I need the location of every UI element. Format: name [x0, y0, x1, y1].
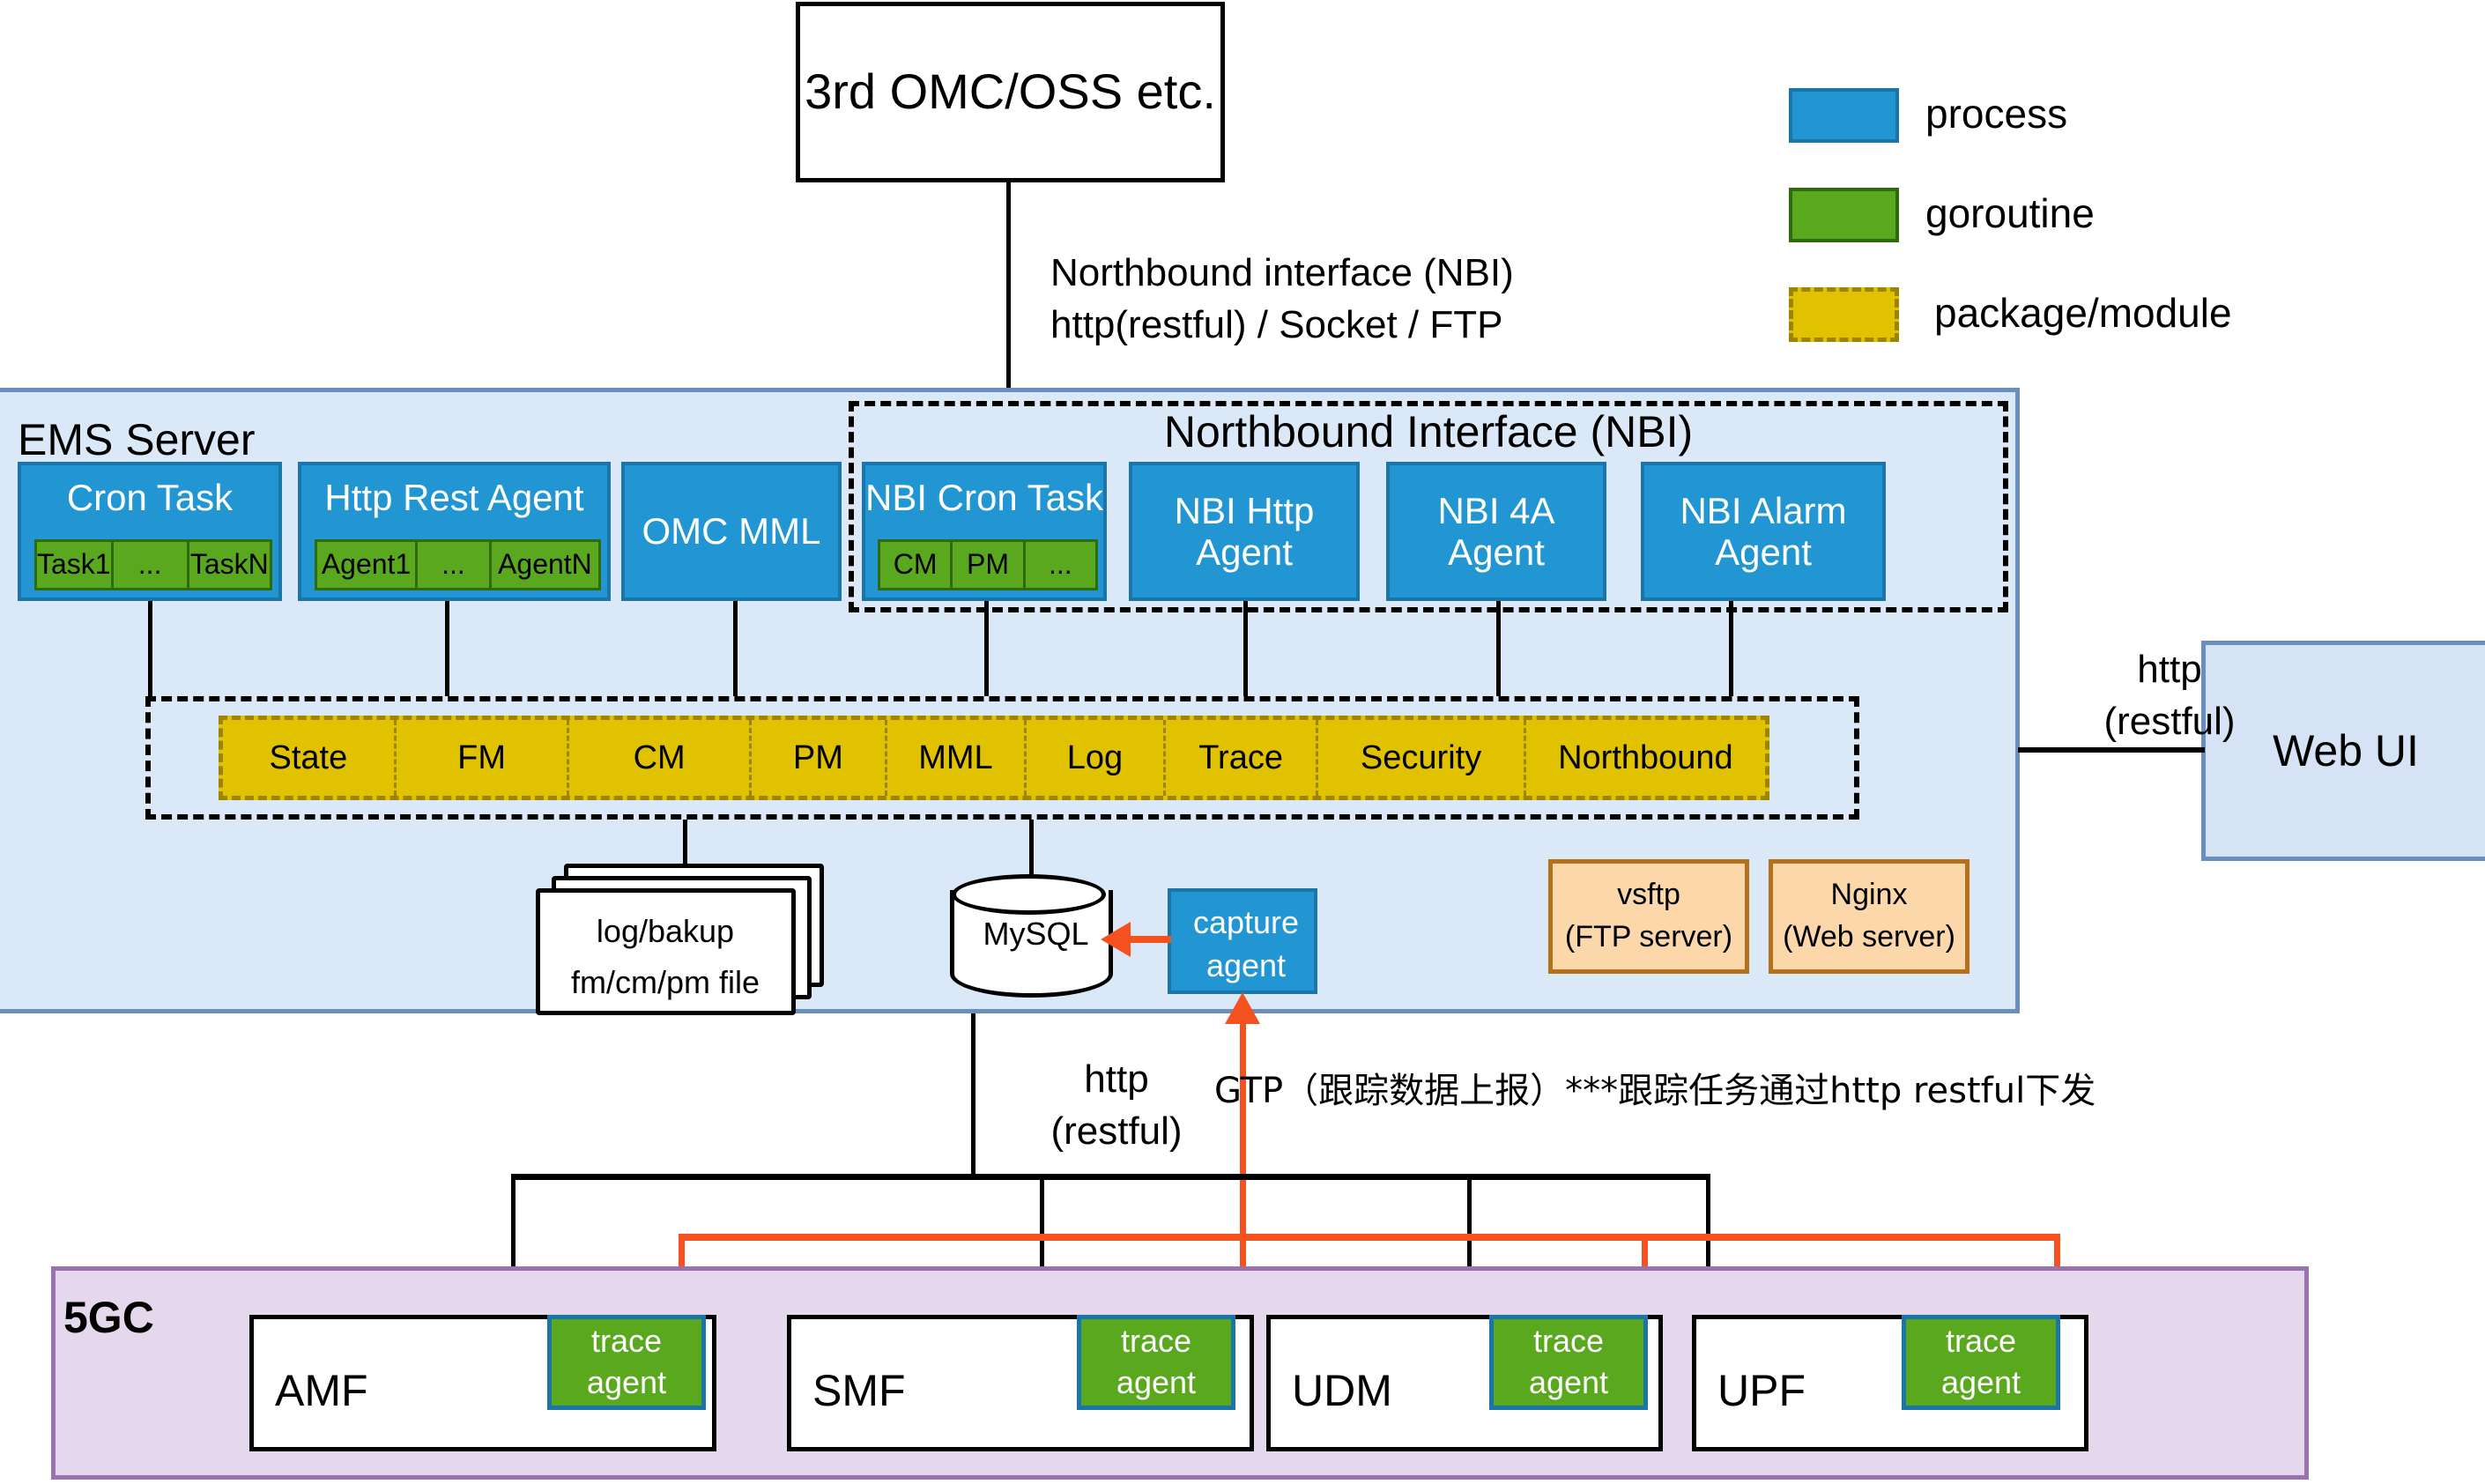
process-nbi-4a-agent-label: NBI 4A Agent	[1390, 490, 1603, 573]
module-state[interactable]: State	[223, 720, 397, 796]
goroutine-agentn[interactable]: AgentN	[492, 539, 601, 590]
connector-ems-to-web-ui	[2018, 747, 2205, 753]
goroutine-nbi-ellipsis: ...	[1026, 539, 1098, 590]
cron-task-goroutines: Task1 ... TaskN	[34, 539, 272, 590]
nbi-link-label-line1: Northbound interface (NBI)	[1050, 247, 1667, 299]
trace-agent-udm-line1: trace	[1533, 1321, 1604, 1362]
trace-agent-amf-line2: agent	[587, 1362, 666, 1404]
server-vsftp-label-line1: vsftp	[1617, 874, 1680, 916]
capture-agent-label-line2: agent	[1206, 945, 1286, 988]
process-capture-agent[interactable]: capture agent	[1168, 888, 1317, 994]
goroutine-taskn[interactable]: TaskN	[189, 539, 272, 590]
legend-item-goroutine: goroutine	[1789, 188, 2406, 242]
http-restful-link-label-line2: (restful)	[1015, 1105, 1218, 1157]
network-function-amf-label: AMF	[275, 1365, 368, 1416]
bus-trace-horizontal	[679, 1234, 2060, 1241]
connector-nbi-4a-agent-to-modules	[1496, 601, 1501, 696]
nbi-cron-task-goroutines: CM PM ...	[878, 539, 1098, 590]
database-mysql-label: MySQL	[954, 915, 1117, 953]
process-cron-task[interactable]: Cron Task Task1 ... TaskN	[18, 462, 282, 601]
nbi-group-title: Northbound Interface (NBI)	[849, 407, 2008, 456]
capture-agent-label: capture agent	[1171, 899, 1321, 991]
connector-nbi-cron-task-to-modules	[984, 601, 989, 696]
connector-modules-to-database	[1029, 820, 1034, 874]
goroutine-agent-ellipsis: ...	[418, 539, 492, 590]
connector-nbi-http-agent-to-modules	[1243, 601, 1248, 696]
web-ui-link-label-line1: http	[2073, 643, 2266, 695]
trace-agent-udm[interactable]: trace agent	[1489, 1315, 1648, 1410]
gtp-uplink-shaft	[1240, 1018, 1246, 1238]
connector-http-rest-agent-to-modules	[445, 601, 449, 696]
bus-http-restful-horizontal	[511, 1174, 1710, 1180]
server-vsftp[interactable]: vsftp (FTP server)	[1548, 859, 1749, 974]
legend-item-package-module: package/module	[1789, 287, 2406, 342]
connector-omc-mml-to-modules	[733, 601, 738, 696]
module-fm[interactable]: FM	[397, 720, 570, 796]
network-function-smf-label: SMF	[812, 1365, 906, 1416]
legend-label-process: process	[1925, 90, 2067, 137]
arrow-capture-agent-to-mysql-shaft	[1129, 936, 1171, 943]
process-nbi-cron-task[interactable]: NBI Cron Task CM PM ...	[862, 462, 1107, 601]
legend: process goroutine package/module	[1789, 88, 2406, 344]
trace-agent-smf-line1: trace	[1121, 1321, 1191, 1362]
http-restful-link-label-line1: http	[1015, 1053, 1218, 1105]
capture-agent-label-line1: capture	[1193, 902, 1299, 945]
ems-server-title: EMS Server	[18, 414, 256, 465]
legend-label-goroutine: goroutine	[1925, 189, 2095, 237]
trace-agent-upf-line1: trace	[1946, 1321, 2016, 1362]
legend-label-package-module: package/module	[1934, 289, 2232, 337]
process-omc-mml[interactable]: OMC MML	[621, 462, 842, 601]
goroutine-pm[interactable]: PM	[953, 539, 1025, 590]
process-nbi-cron-task-label: NBI Cron Task	[865, 465, 1103, 531]
server-vsftp-label-line2: (FTP server)	[1565, 916, 1732, 959]
web-ui-link-label-line2: (restful)	[2073, 695, 2266, 747]
server-nginx-label: Nginx (Web server)	[1773, 864, 1965, 969]
trace-agent-upf[interactable]: trace agent	[1902, 1315, 2060, 1410]
module-northbound[interactable]: Northbound	[1526, 720, 1765, 796]
connector-ems-to-5gc-trunk	[971, 1013, 975, 1177]
gtp-note-label: GTP（跟踪数据上报）***跟踪任务通过http restful下发	[1214, 1062, 2272, 1113]
legend-swatch-process	[1789, 88, 1899, 143]
goroutine-task1[interactable]: Task1	[34, 539, 114, 590]
server-vsftp-label: vsftp (FTP server)	[1553, 864, 1745, 969]
module-pm[interactable]: PM	[752, 720, 887, 796]
database-cylinder-top	[952, 874, 1106, 915]
omc-to-nbi-connector	[1006, 182, 1011, 405]
connector-cron-task-to-modules	[148, 601, 152, 696]
fivegc-title: 5GC	[63, 1292, 154, 1343]
process-nbi-http-agent-label: NBI Http Agent	[1132, 490, 1356, 573]
arrow-capture-agent-to-mysql-head	[1101, 922, 1131, 957]
module-mml[interactable]: MML	[887, 720, 1027, 796]
network-function-upf-label: UPF	[1717, 1365, 1806, 1416]
third-party-omc-oss-label: 3rd OMC/OSS etc.	[805, 64, 1216, 120]
goroutine-agent1[interactable]: Agent1	[315, 539, 418, 590]
module-trace[interactable]: Trace	[1166, 720, 1318, 796]
process-http-rest-agent-label: Http Rest Agent	[301, 465, 607, 531]
module-bar: State FM CM PM MML Log Trace Security No…	[219, 716, 1769, 800]
process-nbi-alarm-agent-label: NBI Alarm Agent	[1644, 490, 1882, 573]
goroutine-task-ellipsis: ...	[114, 539, 189, 590]
nbi-link-label-line2: http(restful) / Socket / FTP	[1050, 299, 1667, 351]
third-party-omc-oss-box: 3rd OMC/OSS etc.	[796, 2, 1225, 182]
file-store-labels: log/bakup fm/cm/pm file	[555, 906, 775, 1007]
process-cron-task-label: Cron Task	[21, 465, 278, 531]
process-nbi-http-agent[interactable]: NBI Http Agent	[1129, 462, 1360, 601]
trace-agent-smf-line2: agent	[1116, 1362, 1196, 1404]
module-cm[interactable]: CM	[569, 720, 751, 796]
web-ui-link-label: http (restful)	[2073, 643, 2266, 748]
file-store-label-line2: fm/cm/pm file	[555, 957, 775, 1008]
legend-item-process: process	[1789, 88, 2406, 143]
goroutine-cm[interactable]: CM	[878, 539, 953, 590]
legend-swatch-goroutine	[1789, 188, 1899, 242]
http-restful-link-label: http (restful)	[1015, 1053, 1218, 1158]
trace-agent-udm-line2: agent	[1529, 1362, 1608, 1404]
file-store-stack: log/bakup fm/cm/pm file	[536, 864, 827, 1009]
gtp-uplink-arrowhead	[1225, 992, 1260, 1024]
connector-nbi-alarm-agent-to-modules	[1729, 601, 1733, 696]
trace-agent-upf-line2: agent	[1941, 1362, 2021, 1404]
file-store-label-line1: log/bakup	[555, 906, 775, 957]
process-nbi-4a-agent[interactable]: NBI 4A Agent	[1386, 462, 1606, 601]
module-security[interactable]: Security	[1318, 720, 1525, 796]
server-nginx-label-line1: Nginx	[1831, 874, 1908, 916]
http-rest-agent-goroutines: Agent1 ... AgentN	[315, 539, 601, 590]
trace-agent-amf-line1: trace	[591, 1321, 662, 1362]
nbi-link-label: Northbound interface (NBI) http(restful)…	[1050, 247, 1667, 352]
server-nginx-label-line2: (Web server)	[1783, 916, 1955, 959]
database-mysql[interactable]: MySQL	[950, 890, 1113, 998]
trace-agent-amf[interactable]: trace agent	[547, 1315, 706, 1410]
legend-swatch-package-module	[1789, 287, 1899, 342]
process-nbi-alarm-agent[interactable]: NBI Alarm Agent	[1641, 462, 1886, 601]
process-omc-mml-label: OMC MML	[642, 510, 821, 552]
module-log[interactable]: Log	[1027, 720, 1166, 796]
trace-agent-smf[interactable]: trace agent	[1077, 1315, 1235, 1410]
server-nginx[interactable]: Nginx (Web server)	[1769, 859, 1969, 974]
process-http-rest-agent[interactable]: Http Rest Agent Agent1 ... AgentN	[298, 462, 611, 601]
network-function-udm-label: UDM	[1292, 1365, 1392, 1416]
web-ui-label: Web UI	[2273, 726, 2419, 775]
